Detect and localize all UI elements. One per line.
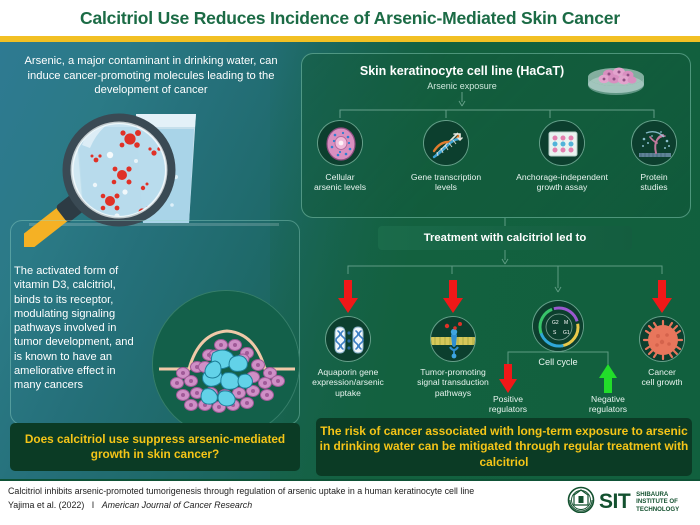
sit-acronym: SIT	[599, 490, 630, 514]
assay-label: Anchorage-independentgrowth assay	[502, 172, 622, 193]
mechanism-label: Aquaporin geneexpression/arsenicuptake	[298, 367, 398, 398]
mechanism-label: Cancercell growth	[612, 367, 700, 388]
assay-label: Proteinstudies	[606, 172, 700, 193]
page-title: Calcitriol Use Reduces Incidence of Arse…	[80, 8, 620, 29]
footer-citation: Yajima et al. (2022) I American Journal …	[8, 500, 252, 510]
title-bar: Calcitriol Use Reduces Incidence of Arse…	[0, 0, 700, 36]
dna-icon	[423, 120, 469, 166]
skin-tumor-illustration	[152, 290, 300, 438]
well-plate-icon	[539, 120, 585, 166]
assay-item-cellular-arsenic: Cellulararsenic levels	[292, 120, 388, 193]
sit-crest-icon	[567, 486, 595, 518]
intro-text: Arsenic, a major contaminant in drinking…	[12, 54, 290, 98]
svg-text:M: M	[564, 320, 568, 326]
footer-separator: I	[92, 500, 94, 510]
footer-paper-title: Calcitriol inhibits arsenic-promoted tum…	[8, 486, 474, 496]
arrow-down-red-aquaporin	[335, 280, 361, 319]
arrow-down-red-cancer	[649, 280, 675, 319]
svg-text:G1: G1	[563, 330, 570, 336]
assay-label: Cellulararsenic levels	[292, 172, 388, 193]
sit-logo: SIT SHIBAURA INSTITUTE OF TECHNOLOGY	[567, 487, 695, 517]
vitamin-d-text: The activated form of vitamin D3, calcit…	[14, 264, 142, 393]
assay-label: Gene transcriptionlevels	[398, 172, 494, 193]
membrane-receptor-icon	[430, 316, 476, 362]
assay-panel: Skin keratinocyte cell line (HaCaT) Arse…	[301, 53, 691, 218]
assay-item-protein-studies: Proteinstudies	[606, 120, 700, 193]
infographic-root: Calcitriol Use Reduces Incidence of Arse…	[0, 0, 700, 525]
assay-item-anchorage-growth: Anchorage-independentgrowth assay	[502, 120, 622, 193]
cell-cycle-node: G2 M S G1	[508, 300, 608, 352]
footer-divider	[0, 479, 700, 481]
mechanism-signal-transduction: Tumor-promotingsignal transductionpathwa…	[403, 316, 503, 398]
main-canvas: Arsenic, a major contaminant in drinking…	[0, 42, 700, 479]
cell-cycle-icon: G2 M S G1	[532, 300, 584, 352]
cell-cycle-label: Cell cycle	[508, 357, 608, 367]
sit-fullname: SHIBAURA INSTITUTE OF TECHNOLOGY	[636, 491, 679, 513]
cancer-cell-icon	[639, 316, 685, 362]
footer-journal: American Journal of Cancer Research	[102, 500, 252, 510]
conclusion-answer: The risk of cancer associated with long-…	[316, 418, 692, 476]
arrow-down-red-signal	[440, 280, 466, 319]
treatment-banner: Treatment with calcitriol led to	[378, 226, 632, 250]
conclusion-question: Does calcitriol use suppress arsenic-med…	[10, 423, 300, 471]
mechanism-cancer-growth: Cancercell growth	[612, 316, 700, 388]
footer-authors: Yajima et al. (2022)	[8, 500, 84, 510]
assay-item-gene-transcription: Gene transcriptionlevels	[398, 120, 494, 193]
cell-icon	[317, 120, 363, 166]
positive-regulators-label: Positiveregulators	[465, 394, 551, 415]
mechanism-aquaporin: Aquaporin geneexpression/arsenicuptake	[298, 316, 398, 398]
protein-blot-icon	[631, 120, 677, 166]
svg-text:G2: G2	[552, 320, 559, 326]
footer: Calcitriol inhibits arsenic-promoted tum…	[0, 479, 700, 525]
negative-regulators-label: Negativeregulators	[565, 394, 651, 415]
aquaporin-channel-icon	[325, 316, 371, 362]
